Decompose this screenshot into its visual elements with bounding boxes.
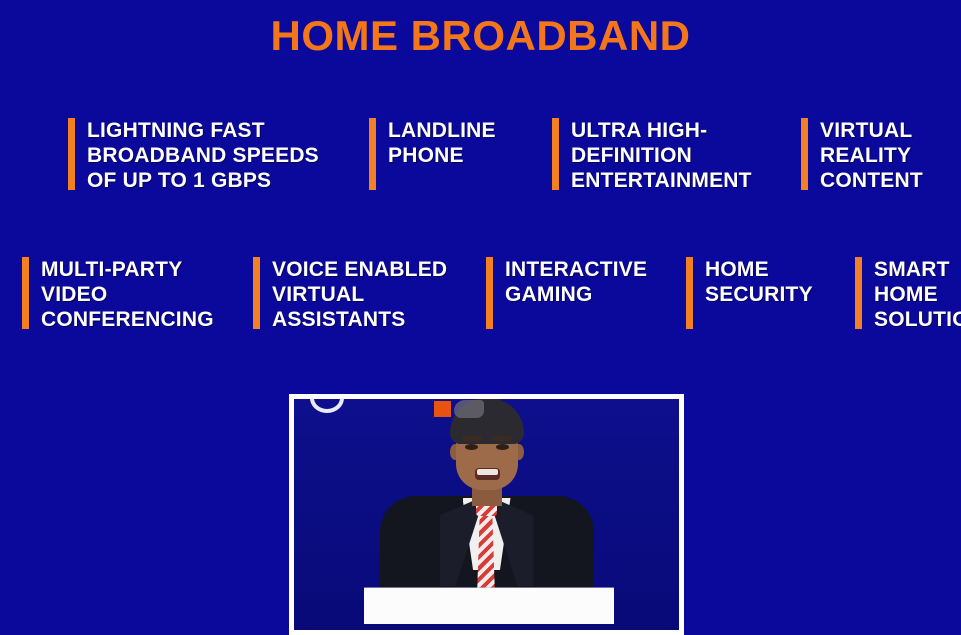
speaker-eyebrow-right (492, 436, 512, 441)
feature-item-ultra-high-definition-entertainment: ULTRA HIGH- DEFINITION ENTERTAINMENT (552, 118, 777, 193)
feature-row-1: LIGHTNING FAST BROADBAND SPEEDS OF UP TO… (68, 118, 950, 193)
feature-label: VOICE ENABLED VIRTUAL ASSISTANTS (272, 257, 460, 332)
feature-item-home-security: HOME SECURITY (686, 257, 829, 329)
feature-item-voice-enabled-virtual-assistants: VOICE ENABLED VIRTUAL ASSISTANTS (253, 257, 460, 332)
speaker-teeth (477, 469, 498, 475)
accent-bar-icon (801, 118, 808, 190)
accent-bar-icon (68, 118, 75, 190)
accent-bar-icon (369, 118, 376, 190)
speaker-eye-right (496, 444, 509, 450)
feature-label: SMART HOME SOLUTIONS (874, 257, 961, 332)
speaker-eyebrow-left (462, 436, 482, 441)
video-stage-background (294, 399, 679, 630)
accent-bar-icon (253, 257, 260, 329)
speaker-hair-highlight (454, 400, 484, 418)
feature-label: INTERACTIVE GAMING (505, 257, 660, 329)
speaker-eye-left (465, 444, 478, 450)
circle-logo-icon (310, 399, 344, 413)
accent-bar-icon (22, 257, 29, 329)
feature-label: HOME SECURITY (705, 257, 829, 329)
feature-label: MULTI-PARTY VIDEO CONFERENCING (41, 257, 227, 332)
feature-row-2: MULTI-PARTY VIDEO CONFERENCING VOICE ENA… (22, 257, 961, 332)
feature-label: ULTRA HIGH- DEFINITION ENTERTAINMENT (571, 118, 777, 193)
feature-item-smart-home-solutions: SMART HOME SOLUTIONS (855, 257, 961, 332)
accent-bar-icon (855, 257, 862, 329)
video-inset[interactable] (289, 394, 684, 635)
feature-item-lightning-fast-broadband-speeds: LIGHTNING FAST BROADBAND SPEEDS OF UP TO… (68, 118, 345, 193)
feature-label: LANDLINE PHONE (388, 118, 528, 190)
page-title: HOME BROADBAND (0, 10, 961, 62)
feature-item-multi-party-video-conferencing: MULTI-PARTY VIDEO CONFERENCING (22, 257, 227, 332)
speaker-figure (362, 399, 612, 594)
accent-bar-icon (486, 257, 493, 329)
feature-item-virtual-reality-content: VIRTUAL REALITY CONTENT (801, 118, 950, 193)
podium (364, 588, 614, 624)
feature-item-landline-phone: LANDLINE PHONE (369, 118, 528, 190)
feature-label: VIRTUAL REALITY CONTENT (820, 118, 950, 193)
feature-label: LIGHTNING FAST BROADBAND SPEEDS OF UP TO… (87, 118, 345, 193)
accent-bar-icon (552, 118, 559, 190)
feature-item-interactive-gaming: INTERACTIVE GAMING (486, 257, 660, 329)
accent-bar-icon (686, 257, 693, 329)
presentation-slide: HOME BROADBAND LIGHTNING FAST BROADBAND … (0, 0, 961, 635)
